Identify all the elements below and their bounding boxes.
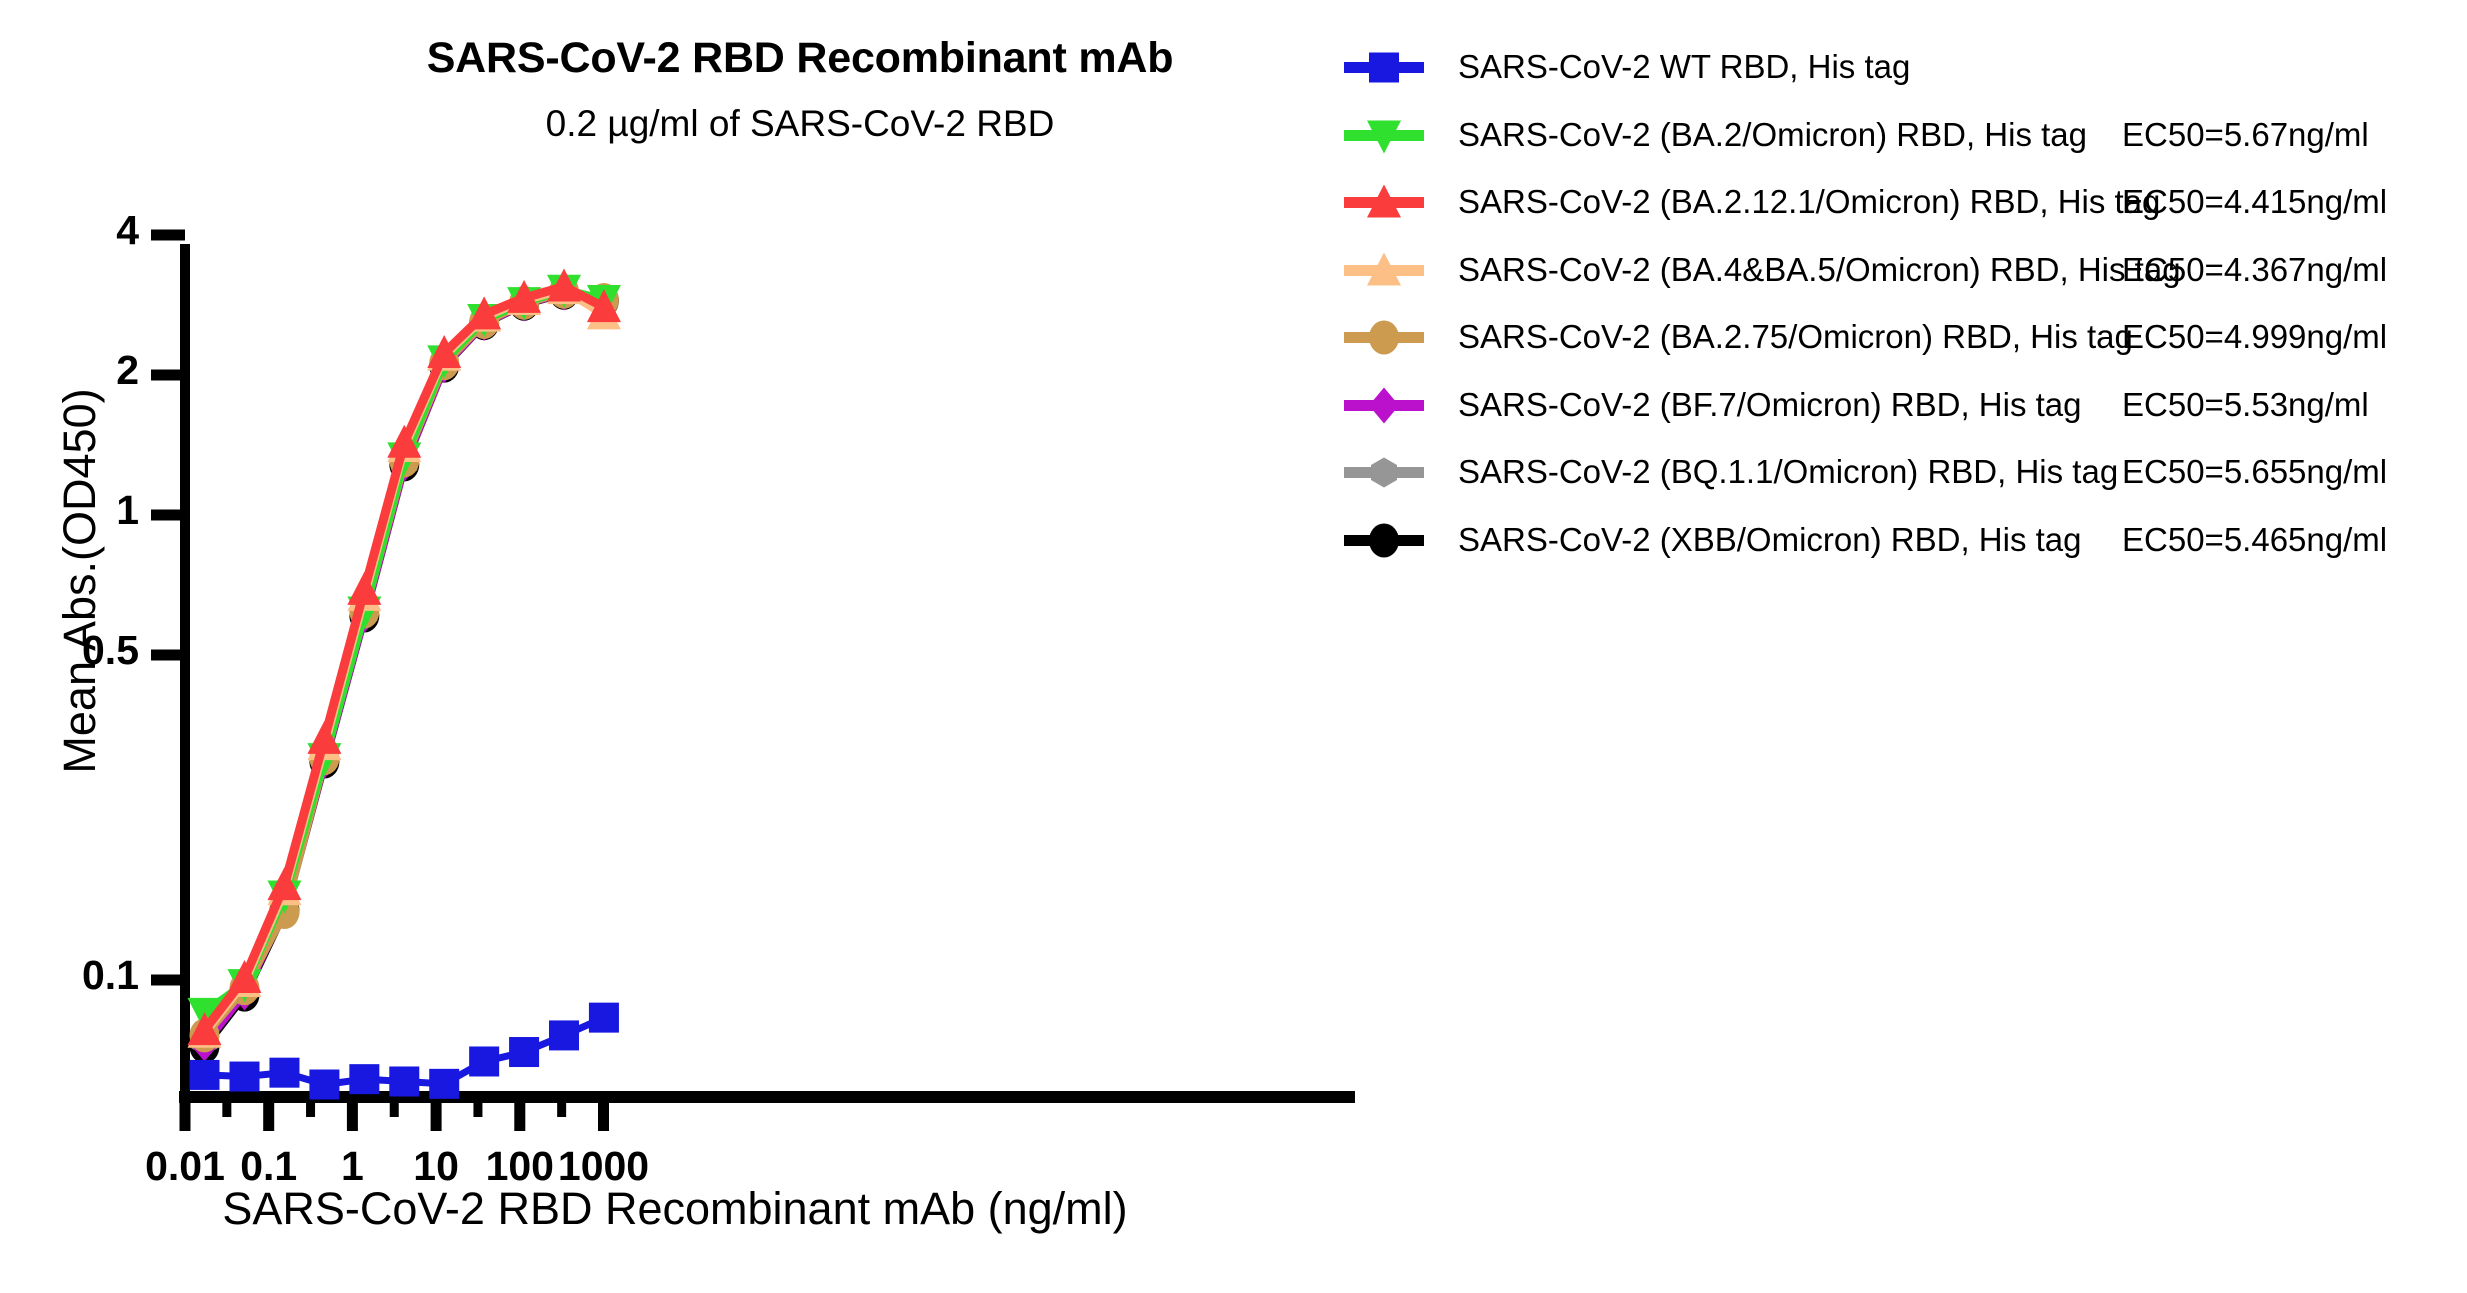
y-tick-label: 4 <box>0 207 139 254</box>
series-1 <box>188 275 621 1031</box>
legend-label: SARS-CoV-2 (BA.2/Omicron) RBD, His tag <box>1458 116 2087 154</box>
legend-item-5[interactable]: SARS-CoV-2 (BF.7/Omicron) RBD, His tagEC… <box>1340 384 2460 427</box>
legend-item-4[interactable]: SARS-CoV-2 (BA.2.75/Omicron) RBD, His ta… <box>1340 316 2460 359</box>
series-5 <box>190 274 619 1061</box>
legend-label: SARS-CoV-2 (BA.4&BA.5/Omicron) RBD, His … <box>1458 251 2181 289</box>
y-tick-label: 1 <box>0 487 139 534</box>
legend-item-3[interactable]: SARS-CoV-2 (BA.4&BA.5/Omicron) RBD, His … <box>1340 249 2460 292</box>
data-point-marker <box>1369 387 1399 423</box>
legend-ec50-value: EC50=5.67ng/ml <box>2122 116 2369 154</box>
data-point-marker <box>269 1058 299 1088</box>
legend-label: SARS-CoV-2 (BF.7/Omicron) RBD, His tag <box>1458 386 2082 424</box>
series-0 <box>190 1003 619 1100</box>
legend-marker-icon <box>1340 451 1430 494</box>
data-point-marker <box>190 1060 220 1090</box>
legend-marker-icon <box>1340 249 1430 292</box>
legend-ec50-value: EC50=4.415ng/ml <box>2122 183 2387 221</box>
legend-label: SARS-CoV-2 WT RBD, His tag <box>1458 48 1910 86</box>
legend-ec50-value: EC50=5.53ng/ml <box>2122 386 2369 424</box>
data-point-marker <box>589 1003 619 1033</box>
data-point-marker <box>1369 321 1399 355</box>
legend-marker-icon <box>1340 384 1430 427</box>
legend-label: SARS-CoV-2 (BA.2.75/Omicron) RBD, His ta… <box>1458 318 2133 356</box>
legend-marker-icon <box>1340 181 1430 224</box>
legend-item-0[interactable]: SARS-CoV-2 WT RBD, His tag <box>1340 46 2460 89</box>
legend-marker-icon <box>1340 316 1430 359</box>
data-point-marker <box>429 1069 459 1099</box>
x-axis-title: SARS-CoV-2 RBD Recombinant mAb (ng/ml) <box>130 1183 1220 1235</box>
y-tick-label: 0.1 <box>0 952 139 999</box>
legend-label: SARS-CoV-2 (XBB/Omicron) RBD, His tag <box>1458 521 2082 559</box>
legend-ec50-value: EC50=5.655ng/ml <box>2122 453 2387 491</box>
legend: SARS-CoV-2 WT RBD, His tagSARS-CoV-2 (BA… <box>1340 46 2460 586</box>
legend-item-6[interactable]: SARS-CoV-2 (BQ.1.1/Omicron) RBD, His tag… <box>1340 451 2460 494</box>
data-point-marker <box>469 1046 499 1076</box>
series-line <box>205 290 604 1013</box>
data-point-marker <box>1371 458 1397 488</box>
x-tick-label: 1000 <box>494 1143 714 1190</box>
legend-marker-icon <box>1340 114 1430 157</box>
data-point-marker <box>389 1066 419 1096</box>
y-tick-label: 0.5 <box>0 627 139 674</box>
legend-ec50-value: EC50=5.465ng/ml <box>2122 521 2387 559</box>
data-point-marker <box>349 1064 379 1094</box>
legend-label: SARS-CoV-2 (BQ.1.1/Omicron) RBD, His tag <box>1458 453 2118 491</box>
plot-area: Mean Abs.(OD450) SARS-CoV-2 RBD Recombin… <box>0 0 1400 1293</box>
legend-marker-icon <box>1340 46 1430 89</box>
series-3 <box>188 271 621 1048</box>
legend-item-2[interactable]: SARS-CoV-2 (BA.2.12.1/Omicron) RBD, His … <box>1340 181 2460 224</box>
plot-canvas <box>0 0 1400 1293</box>
legend-label: SARS-CoV-2 (BA.2.12.1/Omicron) RBD, His … <box>1458 183 2160 221</box>
data-point-marker <box>230 1062 260 1092</box>
series-line <box>205 287 604 1031</box>
data-point-marker <box>309 1070 339 1100</box>
series-4 <box>190 275 619 1053</box>
legend-item-1[interactable]: SARS-CoV-2 (BA.2/Omicron) RBD, His tagEC… <box>1340 114 2460 157</box>
legend-ec50-value: EC50=4.367ng/ml <box>2122 251 2387 289</box>
series-2 <box>188 269 621 1046</box>
data-point-marker <box>1369 53 1399 83</box>
legend-ec50-value: EC50=4.999ng/ml <box>2122 318 2387 356</box>
data-point-marker <box>549 1020 579 1050</box>
legend-marker-icon <box>1340 519 1430 562</box>
data-point-marker <box>1369 523 1399 557</box>
series-6 <box>192 277 617 1056</box>
data-point-marker <box>509 1037 539 1067</box>
chart-figure: SARS-CoV-2 RBD Recombinant mAb 0.2 µg/ml… <box>0 0 2467 1293</box>
y-tick-label: 2 <box>0 347 139 394</box>
legend-item-7[interactable]: SARS-CoV-2 (XBB/Omicron) RBD, His tagEC5… <box>1340 519 2460 562</box>
